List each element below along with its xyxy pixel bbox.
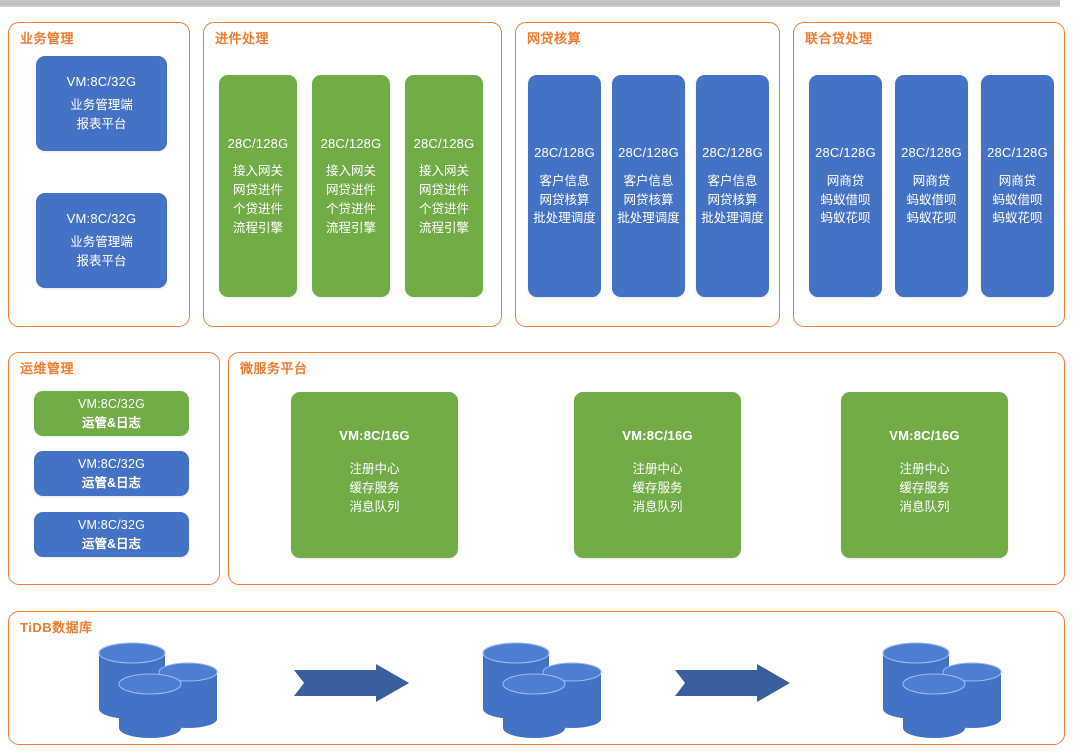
top-gray-strip bbox=[0, 0, 1060, 7]
service-line: 消息队列 bbox=[349, 498, 399, 517]
node-services: 接入网关 网贷进件 个贷进件 流程引擎 bbox=[419, 162, 469, 237]
node-services: 注册中心 缓存服务 消息队列 bbox=[349, 460, 399, 516]
diagram-canvas: 业务管理 VM:8C/32G 业务管理端 报表平台 VM:8C/32G 业务管理… bbox=[0, 0, 1080, 754]
group-title-online-loan-accounting: 网贷核算 bbox=[527, 28, 581, 47]
db-cluster-2[interactable] bbox=[471, 634, 611, 742]
service-line: 流程引擎 bbox=[419, 219, 469, 238]
service-line: 蚂蚁借呗 bbox=[992, 191, 1042, 210]
node-spec: VM:8C/32G bbox=[78, 395, 145, 413]
service-line: 蚂蚁花呗 bbox=[820, 209, 870, 228]
group-title-ops-management: 运维管理 bbox=[20, 358, 74, 377]
service-line: 客户信息 bbox=[617, 172, 680, 191]
service-line: 流程引擎 bbox=[326, 219, 376, 238]
service-line: 运管&日志 bbox=[82, 474, 141, 493]
group-title-business-management: 业务管理 bbox=[20, 28, 74, 47]
service-line: 运管&日志 bbox=[82, 535, 141, 554]
service-line: 注册中心 bbox=[632, 460, 682, 479]
node-spec: VM:8C/32G bbox=[67, 210, 137, 229]
node-spec: VM:8C/16G bbox=[889, 427, 959, 446]
node-services: 客户信息 网贷核算 批处理调度 bbox=[533, 172, 596, 228]
node-intake-1[interactable]: 28C/128G 接入网关 网贷进件 个贷进件 流程引擎 bbox=[219, 75, 297, 297]
db-cluster-1[interactable] bbox=[87, 634, 227, 742]
service-line: 蚂蚁借呗 bbox=[820, 191, 870, 210]
service-line: 缓存服务 bbox=[632, 479, 682, 498]
group-title-intake-processing: 进件处理 bbox=[215, 28, 269, 47]
node-spec: VM:8C/32G bbox=[78, 516, 145, 534]
service-line: 缓存服务 bbox=[349, 479, 399, 498]
node-spec: 28C/128G bbox=[618, 144, 679, 163]
service-line: 网贷进件 bbox=[419, 181, 469, 200]
service-line: 消息队列 bbox=[899, 498, 949, 517]
node-business-management-2[interactable]: VM:8C/32G 业务管理端 报表平台 bbox=[36, 193, 167, 288]
service-line: 蚂蚁借呗 bbox=[906, 191, 956, 210]
node-accounting-1[interactable]: 28C/128G 客户信息 网贷核算 批处理调度 bbox=[528, 75, 601, 297]
service-line: 业务管理端 bbox=[70, 96, 133, 115]
service-line: 业务管理端 bbox=[70, 233, 133, 252]
service-line: 接入网关 bbox=[419, 162, 469, 181]
service-line: 网商贷 bbox=[992, 172, 1042, 191]
node-spec: 28C/128G bbox=[321, 135, 382, 154]
group-business-management: 业务管理 VM:8C/32G 业务管理端 报表平台 VM:8C/32G 业务管理… bbox=[8, 22, 190, 327]
node-microservice-2[interactable]: VM:8C/16G 注册中心 缓存服务 消息队列 bbox=[574, 392, 741, 558]
service-line: 网贷核算 bbox=[533, 191, 596, 210]
service-line: 网贷进件 bbox=[233, 181, 283, 200]
node-accounting-2[interactable]: 28C/128G 客户信息 网贷核算 批处理调度 bbox=[612, 75, 685, 297]
node-microservice-3[interactable]: VM:8C/16G 注册中心 缓存服务 消息队列 bbox=[841, 392, 1008, 558]
service-line: 缓存服务 bbox=[899, 479, 949, 498]
node-services: 运管&日志 bbox=[82, 474, 141, 493]
node-ops-1[interactable]: VM:8C/32G 运管&日志 bbox=[34, 391, 189, 436]
node-spec: 28C/128G bbox=[228, 135, 289, 154]
service-line: 网商贷 bbox=[906, 172, 956, 191]
node-spec: VM:8C/16G bbox=[622, 427, 692, 446]
node-services: 业务管理端 报表平台 bbox=[70, 96, 133, 134]
node-joint-loan-1[interactable]: 28C/128G 网商贷 蚂蚁借呗 蚂蚁花呗 bbox=[809, 75, 882, 297]
node-spec: 28C/128G bbox=[702, 144, 763, 163]
service-line: 网贷核算 bbox=[617, 191, 680, 210]
service-line: 流程引擎 bbox=[233, 219, 283, 238]
group-title-microservice-platform: 微服务平台 bbox=[240, 358, 308, 377]
database-cylinders-icon bbox=[87, 634, 227, 742]
service-line: 批处理调度 bbox=[701, 209, 764, 228]
node-services: 客户信息 网贷核算 批处理调度 bbox=[617, 172, 680, 228]
node-joint-loan-3[interactable]: 28C/128G 网商贷 蚂蚁借呗 蚂蚁花呗 bbox=[981, 75, 1054, 297]
node-spec: 28C/128G bbox=[534, 144, 595, 163]
service-line: 蚂蚁花呗 bbox=[992, 209, 1042, 228]
node-services: 网商贷 蚂蚁借呗 蚂蚁花呗 bbox=[906, 172, 956, 228]
db-cluster-3[interactable] bbox=[871, 634, 1011, 742]
node-services: 注册中心 缓存服务 消息队列 bbox=[899, 460, 949, 516]
node-services: 注册中心 缓存服务 消息队列 bbox=[632, 460, 682, 516]
replication-arrow-2 bbox=[675, 664, 790, 702]
service-line: 个贷进件 bbox=[419, 200, 469, 219]
node-spec: VM:8C/16G bbox=[339, 427, 409, 446]
service-line: 注册中心 bbox=[349, 460, 399, 479]
right-arrow-icon bbox=[294, 664, 409, 702]
service-line: 报表平台 bbox=[70, 252, 133, 271]
service-line: 消息队列 bbox=[632, 498, 682, 517]
group-tidb-database: TiDB数据库 bbox=[8, 611, 1065, 745]
group-title-tidb-database: TiDB数据库 bbox=[20, 617, 93, 636]
node-joint-loan-2[interactable]: 28C/128G 网商贷 蚂蚁借呗 蚂蚁花呗 bbox=[895, 75, 968, 297]
node-microservice-1[interactable]: VM:8C/16G 注册中心 缓存服务 消息队列 bbox=[291, 392, 458, 558]
group-microservice-platform: 微服务平台 VM:8C/16G 注册中心 缓存服务 消息队列 VM:8C/16G… bbox=[228, 352, 1065, 585]
node-spec: 28C/128G bbox=[414, 135, 475, 154]
node-ops-2[interactable]: VM:8C/32G 运管&日志 bbox=[34, 451, 189, 496]
service-line: 网贷核算 bbox=[701, 191, 764, 210]
database-cylinders-icon bbox=[871, 634, 1011, 742]
group-joint-loan-processing: 联合贷处理 28C/128G 网商贷 蚂蚁借呗 蚂蚁花呗 28C/128G 网商… bbox=[793, 22, 1065, 327]
node-services: 网商贷 蚂蚁借呗 蚂蚁花呗 bbox=[820, 172, 870, 228]
group-online-loan-accounting: 网贷核算 28C/128G 客户信息 网贷核算 批处理调度 28C/128G 客… bbox=[515, 22, 780, 327]
group-ops-management: 运维管理 VM:8C/32G 运管&日志 VM:8C/32G 运管&日志 VM:… bbox=[8, 352, 220, 585]
node-services: 运管&日志 bbox=[82, 414, 141, 433]
group-intake-processing: 进件处理 28C/128G 接入网关 网贷进件 个贷进件 流程引擎 28C/12… bbox=[203, 22, 502, 327]
database-cylinders-icon bbox=[471, 634, 611, 742]
node-ops-3[interactable]: VM:8C/32G 运管&日志 bbox=[34, 512, 189, 557]
service-line: 客户信息 bbox=[701, 172, 764, 191]
service-line: 报表平台 bbox=[70, 115, 133, 134]
service-line: 批处理调度 bbox=[533, 209, 596, 228]
node-services: 接入网关 网贷进件 个贷进件 流程引擎 bbox=[326, 162, 376, 237]
node-services: 客户信息 网贷核算 批处理调度 bbox=[701, 172, 764, 228]
node-business-management-1[interactable]: VM:8C/32G 业务管理端 报表平台 bbox=[36, 56, 167, 151]
service-line: 个贷进件 bbox=[326, 200, 376, 219]
node-services: 运管&日志 bbox=[82, 535, 141, 554]
service-line: 客户信息 bbox=[533, 172, 596, 191]
node-services: 业务管理端 报表平台 bbox=[70, 233, 133, 271]
replication-arrow-1 bbox=[294, 664, 409, 702]
service-line: 运管&日志 bbox=[82, 414, 141, 433]
service-line: 网商贷 bbox=[820, 172, 870, 191]
service-line: 网贷进件 bbox=[326, 181, 376, 200]
right-arrow-icon bbox=[675, 664, 790, 702]
node-spec: VM:8C/32G bbox=[78, 455, 145, 473]
service-line: 接入网关 bbox=[326, 162, 376, 181]
node-services: 接入网关 网贷进件 个贷进件 流程引擎 bbox=[233, 162, 283, 237]
service-line: 个贷进件 bbox=[233, 200, 283, 219]
node-accounting-3[interactable]: 28C/128G 客户信息 网贷核算 批处理调度 bbox=[696, 75, 769, 297]
node-intake-2[interactable]: 28C/128G 接入网关 网贷进件 个贷进件 流程引擎 bbox=[312, 75, 390, 297]
node-spec: 28C/128G bbox=[901, 144, 962, 163]
service-line: 蚂蚁花呗 bbox=[906, 209, 956, 228]
node-intake-3[interactable]: 28C/128G 接入网关 网贷进件 个贷进件 流程引擎 bbox=[405, 75, 483, 297]
node-spec: VM:8C/32G bbox=[67, 73, 137, 92]
group-title-joint-loan-processing: 联合贷处理 bbox=[805, 28, 873, 47]
node-spec: 28C/128G bbox=[987, 144, 1048, 163]
node-services: 网商贷 蚂蚁借呗 蚂蚁花呗 bbox=[992, 172, 1042, 228]
node-spec: 28C/128G bbox=[815, 144, 876, 163]
service-line: 接入网关 bbox=[233, 162, 283, 181]
service-line: 批处理调度 bbox=[617, 209, 680, 228]
service-line: 注册中心 bbox=[899, 460, 949, 479]
